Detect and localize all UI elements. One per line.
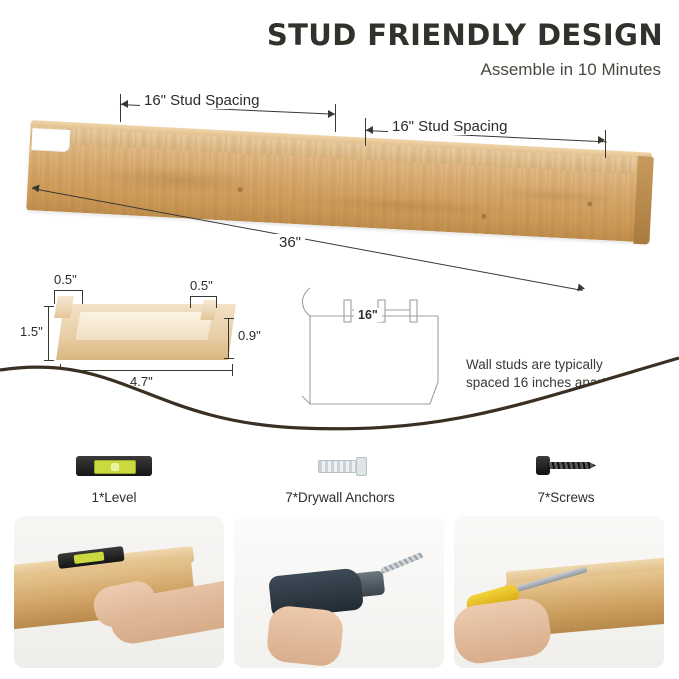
dim-tick-lip-left-1: [54, 290, 55, 304]
stud-wall-diagram: 16": [292, 286, 452, 414]
photo2-drill-bit: [380, 552, 423, 574]
dim-line-height: [48, 306, 49, 360]
photo-level-on-shelf: [14, 516, 224, 668]
dim-tick-lip-left-2: [82, 290, 83, 304]
dim-tick-inner-top: [224, 318, 234, 319]
level-bubble: [111, 463, 119, 471]
dim-tick-lip-right-1: [190, 296, 191, 308]
dim-arrow-left-start: [121, 100, 128, 108]
screw-shaft: [548, 462, 596, 469]
photo1-level-vial: [74, 551, 105, 564]
product-infographic: STUD FRIENDLY DESIGN Assemble in 10 Minu…: [0, 0, 679, 679]
stud-spacing-right-label: 16" Stud Spacing: [388, 118, 511, 135]
screw-icon: [536, 454, 598, 476]
accessories-row: 1*Level 7*Drywall Anchors 7*Screws: [0, 448, 679, 510]
anchor-body: [318, 460, 360, 473]
anchor-head: [356, 457, 367, 476]
accessory-anchors-label: 7*Drywall Anchors: [240, 490, 440, 505]
inner-height-label: 0.9": [234, 328, 265, 343]
stud-wall-svg: [292, 286, 452, 414]
photo-strip: [14, 516, 666, 668]
overall-length-label: 36": [275, 234, 305, 251]
screw-head: [536, 456, 550, 475]
photo-screwdriver-on-shelf: [454, 516, 664, 668]
floating-shelf-board: [25, 120, 652, 264]
dim-tick-left-1: [120, 94, 121, 122]
stud-spacing-left-label: 16" Stud Spacing: [140, 92, 263, 109]
cross-section-inner-surface: [76, 312, 213, 340]
dim-line-lip-right: [190, 296, 216, 297]
dim-tick-height-top: [44, 306, 54, 307]
level-icon: [76, 456, 152, 476]
page-title: STUD FRIENDLY DESIGN: [267, 18, 663, 52]
depth-label: 4.7": [126, 374, 157, 389]
height-label: 1.5": [16, 324, 47, 339]
level-vial: [94, 460, 136, 474]
shelf-left-notch: [31, 128, 70, 152]
dim-tick-left-2: [335, 104, 336, 132]
dim-tick-depth-right: [232, 364, 233, 376]
dim-tick-inner-bottom: [224, 358, 234, 359]
dim-line-inner-height: [228, 318, 229, 358]
dim-tick-lip-right-2: [216, 296, 217, 308]
shelf-end-cap: [633, 156, 654, 245]
dim-arrow-right-end: [598, 136, 605, 144]
dim-line-depth: [60, 370, 232, 371]
dim-tick-height-bottom: [44, 360, 54, 361]
dim-arrow-length-start: [31, 183, 39, 192]
dim-tick-depth-left: [60, 364, 61, 376]
page-subtitle: Assemble in 10 Minutes: [481, 60, 661, 80]
stud-spacing-diagram-label: 16": [354, 308, 382, 322]
dim-arrow-length-end: [577, 283, 585, 292]
lip-right-label: 0.5": [186, 278, 217, 293]
drywall-anchor-icon: [318, 456, 366, 474]
lip-left-label: 0.5": [50, 272, 81, 287]
photo3-hand: [454, 596, 554, 667]
dim-arrow-right-start: [366, 126, 373, 134]
photo2-hand: [265, 604, 344, 667]
stud-note-text: Wall studs are typically spaced 16 inche…: [466, 356, 641, 392]
accessory-level-label: 1*Level: [14, 490, 214, 505]
dim-tick-right-2: [605, 130, 606, 158]
dim-line-lip-left: [54, 290, 82, 291]
dim-arrow-left-end: [328, 110, 335, 118]
cross-section-illustration: 0.5" 0.5" 1.5" 0.9" 4.7": [42, 282, 262, 382]
photo-drilling-wall: [234, 516, 444, 668]
accessory-screws-label: 7*Screws: [466, 490, 666, 505]
